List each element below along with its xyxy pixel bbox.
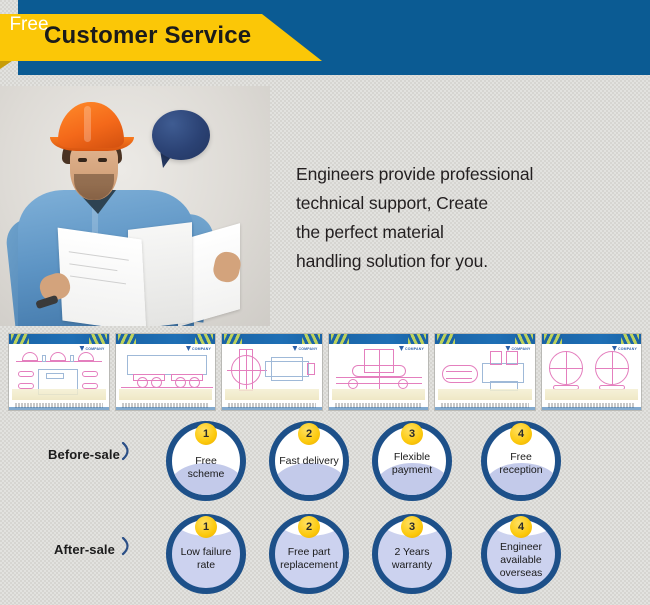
thumb-ground [12, 389, 106, 400]
circle-label-line: Low failure [176, 546, 236, 559]
circle-label-line: Free scheme [176, 455, 236, 481]
blueprint-sheet-left [58, 228, 147, 326]
drawing-two-circular-sections[interactable]: COMPANY [541, 333, 643, 411]
circle-label: 2 Years warranty [378, 546, 446, 572]
headline-line-2: technical support, Create [296, 189, 626, 218]
circle-label-line: Engineer [491, 541, 551, 554]
thumb-footer-bar [9, 407, 109, 410]
circle-label: Free scheme [172, 455, 240, 481]
circle-label: Free reception [487, 451, 555, 477]
headline-line-1: Engineers provide professional [296, 160, 626, 189]
before-sale-badge-4: 4 [510, 423, 532, 445]
thumb-footer-bar [222, 407, 322, 410]
circle-label: Engineer available overseas [487, 541, 555, 580]
drawing-rail-wagon-side-view[interactable]: COMPANY [115, 333, 217, 411]
before-sale-badge-2: 2 [298, 423, 320, 445]
circle-label-line: payment [382, 464, 442, 477]
thumb-footer-bar [435, 407, 535, 410]
photo-right-eye [98, 158, 107, 162]
thumb-header-bar [222, 334, 322, 344]
thumb-drawing [225, 347, 319, 400]
thumb-drawing [332, 347, 426, 400]
thumb-ground [119, 389, 213, 400]
before-sale-label: Before-sale [48, 447, 120, 462]
thumb-header-bar [9, 334, 109, 344]
thumb-footer-bar [116, 407, 216, 410]
thumb-drawing [545, 347, 639, 400]
engineer-photo [0, 86, 270, 326]
after-sale-badge-2: 2 [298, 516, 320, 538]
circle-label-line: Flexible [382, 451, 442, 464]
thumb-footer-bar [329, 407, 429, 410]
thumb-drawing [119, 347, 213, 400]
thumb-header-bar [116, 334, 216, 344]
before-sale-badge-1: 1 [195, 423, 217, 445]
thumb-ground [438, 389, 532, 400]
circle-label-line: Free part [279, 546, 339, 559]
after-sale-badge-3: 3 [401, 516, 423, 538]
thumb-header-bar [542, 334, 642, 344]
circle-label-line: reception [491, 464, 551, 477]
after-sale-label: After-sale [54, 542, 115, 557]
after-sale-badge-1: 1 [195, 516, 217, 538]
thumb-ground [545, 389, 639, 400]
headline-line-4: handling solution for you. [296, 247, 626, 276]
photo-helmet-ridge [84, 106, 91, 142]
thumb-footer-bar [542, 407, 642, 410]
thumb-header-bar [329, 334, 429, 344]
free-speech-bubble [152, 110, 210, 160]
drawing-tank-end-and-side-view[interactable]: COMPANY [221, 333, 323, 411]
drawing-top-and-side-view[interactable]: COMPANY [8, 333, 110, 411]
thumb-drawing [438, 347, 532, 400]
circle-label: Free part replacement [275, 546, 343, 572]
drawing-thumbnail-strip: COMPANY COMPANY [8, 333, 642, 411]
circle-label-line: 2 Years [382, 546, 442, 559]
chevron-right-icon-after-sale [120, 535, 134, 557]
free-bubble-label: Free [0, 0, 58, 50]
circle-label: Flexible payment [378, 451, 446, 477]
circle-label-line: warranty [382, 559, 442, 572]
thumb-ground [225, 389, 319, 400]
drawing-tank-layout-plan[interactable]: COMPANY [434, 333, 536, 411]
circle-label-line: Free [491, 451, 551, 464]
before-sale-badge-3: 3 [401, 423, 423, 445]
after-sale-badge-4: 4 [510, 516, 532, 538]
headline-line-3: the perfect material [296, 218, 626, 247]
chevron-right-icon-before-sale [120, 440, 134, 462]
circle-label: Fast delivery [275, 455, 343, 468]
circle-label-line: overseas [491, 567, 551, 580]
thumb-ground [332, 389, 426, 400]
circle-label-line: rate [176, 559, 236, 572]
thumb-header-bar [435, 334, 535, 344]
headline-paragraph: Engineers provide professional technical… [296, 160, 626, 276]
page-title: Customer Service [44, 22, 251, 50]
drawing-transporter-side-view[interactable]: COMPANY [328, 333, 430, 411]
circle-label-line: Fast delivery [279, 455, 339, 468]
thumb-drawing [12, 347, 106, 400]
circle-label-line: replacement [279, 559, 339, 572]
circle-label-line: available [491, 554, 551, 567]
circle-label: Low failure rate [172, 546, 240, 572]
photo-left-eye [78, 158, 87, 162]
